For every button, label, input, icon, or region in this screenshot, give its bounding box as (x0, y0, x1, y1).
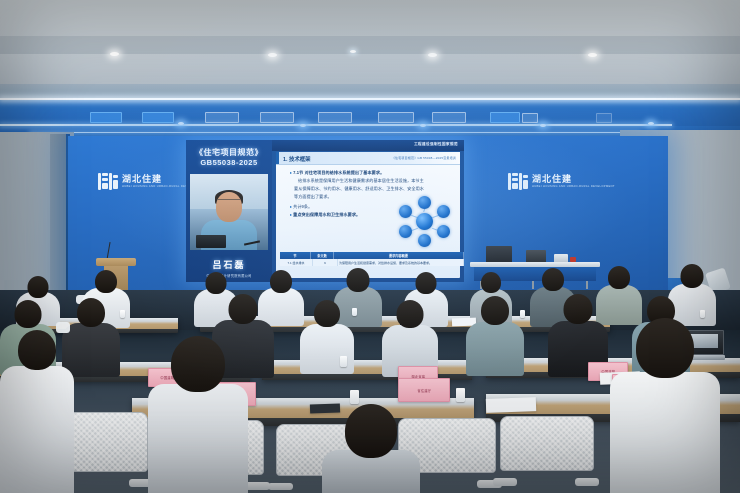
slide-content-panel: 工程建设强制性国家规范 1. 技术框架 《住宅项目规范》GB 55038—202… (272, 140, 464, 282)
speaker-glasses-icon (218, 199, 240, 205)
slide-title-block: 《住宅项目规范》 GB55038-2025 (188, 148, 270, 167)
diagram-node (437, 225, 450, 238)
slide-bullet-text: 重点突出保障用水和卫生排水要求。 (293, 212, 360, 217)
slide-content-card: 1. 技术框架 《住宅项目规范》GB 55038—2025宣贯培训 ▸7.1节 … (276, 152, 460, 278)
table-header-row: 节 条文数 要求内容概要 (280, 252, 464, 259)
ceiling-led-strip-1 (0, 98, 740, 100)
ceiling-vent-panel (142, 112, 174, 123)
table-header-cell: 条文数 (311, 252, 334, 259)
ceiling-vent-panel (260, 112, 294, 123)
ceiling-spotlight (428, 53, 437, 57)
slide-section-heading: 1. 技术框架 (283, 155, 311, 163)
diagram-node (418, 196, 431, 209)
table-cell: 9 (313, 259, 338, 266)
ceiling-spotlight (648, 122, 654, 125)
ceiling-band-upper (0, 36, 740, 54)
diagram-node (437, 205, 450, 218)
ceiling-band-lower (0, 84, 740, 98)
podium-microphone (106, 242, 110, 260)
ceiling-spotlight (588, 53, 597, 57)
slide-title-line1: 《住宅项目规范》 (188, 148, 270, 158)
hubei-logo-mark-icon (508, 172, 528, 192)
slide-section-bar: 1. 技术框架 《住宅项目规范》GB 55038—2025宣贯培训 (276, 152, 460, 165)
hubei-logo-mark-icon (98, 172, 118, 192)
ceiling-led-strip-2 (0, 124, 672, 126)
speaker-head (216, 192, 242, 222)
slide-section-reference: 《住宅项目规范》GB 55038—2025宣贯培训 (392, 156, 456, 160)
slide-section-accent (276, 152, 279, 164)
slide-left-panel: 《住宅项目规范》 GB55038-2025 吕石磊 中国建筑设计研究院有限公司 (186, 140, 272, 282)
slide-bullet: ▸共计9条。 (290, 204, 390, 210)
hexagonal-node-diagram (398, 196, 452, 248)
ceiling-spotlight (540, 124, 546, 127)
slide-bullet-text: 要从保障用水、节约用水、健康用水、舒适用水、卫生排水、安全用水 (294, 186, 424, 191)
speaker-laptop (196, 235, 226, 248)
audience-person-foreground (322, 404, 420, 493)
podium-top (96, 258, 136, 266)
slide-header-text: 工程建设强制性国家规范 (414, 142, 458, 147)
wall-logo-en: HUBEI HOUSING AND URBAN-RURAL DEVELOPMEN… (532, 186, 615, 189)
ceiling-vent-panel (378, 112, 414, 123)
audience-person-foreground (148, 336, 248, 493)
diagram-node (399, 205, 412, 218)
chair (500, 416, 592, 490)
slide-bullet-text: 等方面提出了要求。 (294, 194, 332, 199)
ceiling-soffit (0, 54, 740, 84)
table-cell: 7.1 给水排水 (280, 259, 313, 266)
diagram-node (399, 225, 412, 238)
slide-bullet-text: 7.1节 对住宅项目的给排水系统提出了基本要求。 (293, 170, 384, 175)
name-card: 省住建厅 (398, 378, 450, 402)
water-cup (456, 388, 465, 402)
ceiling-vent-panel (432, 112, 466, 123)
ceiling-upper-slab (0, 0, 740, 36)
diagram-node (418, 234, 431, 247)
slide-bullet-text: 共计9条。 (293, 204, 312, 209)
ceiling-spotlight (110, 52, 119, 56)
ceiling-spotlight (350, 50, 356, 53)
table-header-cell: 要求内容概要 (334, 252, 464, 259)
ceiling-vent-panel (90, 112, 122, 123)
audience-person (382, 300, 438, 374)
name-card-text: 省住建厅 (417, 388, 431, 393)
ceiling-vent-panel (490, 112, 520, 123)
slide-title-line2: GB55038-2025 (188, 158, 270, 167)
wall-logo-right: 湖北住建 HUBEI HOUSING AND URBAN-RURAL DEVEL… (508, 172, 615, 192)
slide-bullet: 要从保障用水、节约用水、健康用水、舒适用水、卫生排水、安全用水 (294, 186, 456, 192)
ceiling-spotlight (178, 122, 184, 125)
water-cup (350, 390, 359, 404)
slide-summary-table: 节 条文数 要求内容概要 7.1 给水排水 9 为保障用户生活和健康需求，对给排… (280, 252, 464, 266)
water-cup (700, 310, 705, 318)
ceiling-led-strip-3 (30, 132, 640, 133)
wall-logo-cn: 湖北住建 (532, 175, 615, 184)
water-cup (340, 356, 347, 367)
slide-header-bar: 工程建设强制性国家规范 (272, 140, 464, 151)
ceiling-spotlight (420, 124, 426, 127)
slide-bullet: 等方面提出了要求。 (294, 194, 414, 200)
slide-bullet: ▸7.1节 对住宅项目的给排水系统提出了基本要求。 (290, 170, 456, 176)
ceiling-spotlight (268, 53, 277, 57)
ceiling-vent-panel (205, 112, 239, 123)
ceiling-vent-panel (596, 113, 612, 123)
table-header-cell: 节 (280, 252, 311, 259)
ceiling-vent-panel (522, 113, 538, 123)
stage-monitor (486, 246, 512, 263)
desk-row-middle (262, 360, 472, 380)
table-row: 7.1 给水排水 9 为保障用户生活和健康需求，对给排水设施、要求及系统的基本要… (280, 259, 464, 266)
ceiling-spotlight (300, 124, 306, 127)
slide-bullet-text: 给排水系统是保障用户生活和健康需求的基本居住生活设施，本节主 (298, 178, 424, 183)
diagram-center-node (416, 213, 433, 230)
audience-person (466, 296, 524, 374)
presentation-slide: 《住宅项目规范》 GB55038-2025 吕石磊 中国建筑设计研究院有限公司 … (186, 140, 464, 282)
audience-person-foreground (0, 330, 74, 493)
stage-desk-leg (586, 281, 588, 289)
audience-person-foreground (610, 318, 720, 493)
conference-hall-photo: 湖北住建 HUBEI HOUSING AND URBAN-RURAL DEVEL… (0, 0, 740, 493)
document-paper (486, 397, 536, 413)
ceiling-vent-panel (318, 112, 352, 123)
diagram-link (411, 228, 418, 231)
speaker-video-feed (190, 174, 268, 250)
slide-bullet: 给排水系统是保障用户生活和健康需求的基本居住生活设施，本节主 (298, 178, 456, 184)
table-cell: 为保障用户生活和健康需求，对给排水设施、要求及系统的基本要求。 (338, 259, 464, 266)
water-cup (120, 310, 125, 318)
